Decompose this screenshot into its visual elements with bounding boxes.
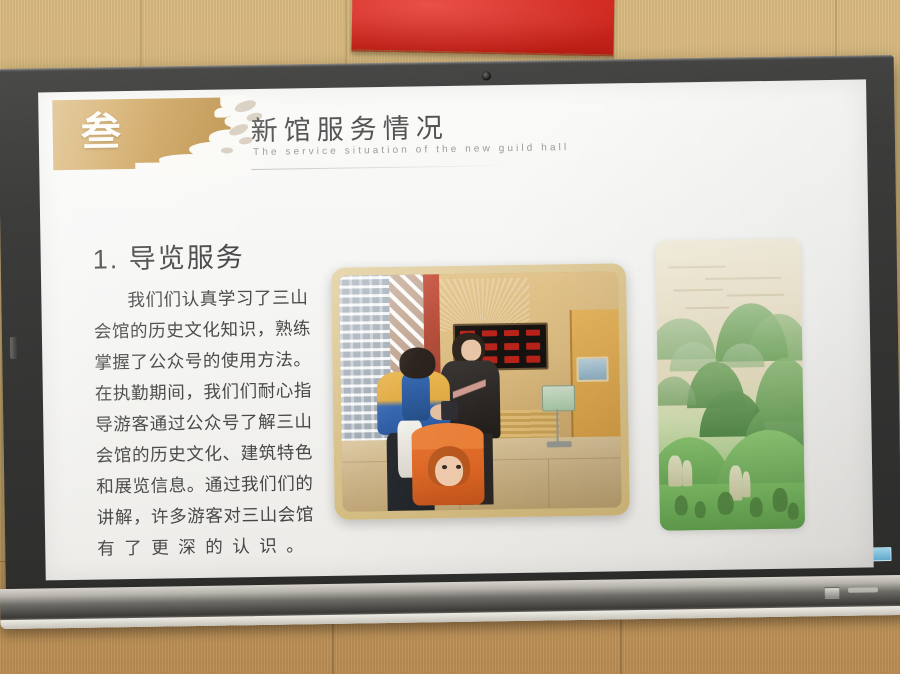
photo-volunteer-head xyxy=(399,347,436,378)
photo-info-tablet xyxy=(576,356,608,382)
slide-title: 新馆服务情况 xyxy=(250,106,449,148)
cloud-line xyxy=(726,294,784,297)
cloud-line xyxy=(705,276,780,279)
body-line: 讲解，许多游客对三山会馆 xyxy=(97,499,345,534)
interactive-whiteboard[interactable]: 叁 xyxy=(0,55,900,619)
rock-formation xyxy=(742,471,751,497)
body-line: 导游客通过公众号了解三山 xyxy=(95,406,343,441)
photo-baby-eye xyxy=(456,465,461,469)
section-heading: 1. 导览服务 xyxy=(92,235,245,276)
landscape-painting xyxy=(656,238,806,530)
display-bezel: 叁 xyxy=(0,55,900,603)
body-line: 在执勤期间，我们们耐心指 xyxy=(95,375,343,410)
rock-formation xyxy=(682,461,693,487)
floor-line xyxy=(548,459,550,509)
photo-stroller-hood xyxy=(411,422,484,449)
body-text-column: 我们们认真学习了三山 会馆的历史文化知识，熟练 掌握了公众号的使用方法。 在执勤… xyxy=(93,282,345,565)
tree xyxy=(717,492,733,515)
ink-splatter xyxy=(135,161,265,177)
camera-sensor-icon xyxy=(482,71,491,80)
title-underline xyxy=(251,165,513,170)
tray-slot xyxy=(848,587,878,592)
led-cell xyxy=(526,342,541,349)
body-line: 有了更深的认识。 xyxy=(97,530,345,565)
usb-port-icon[interactable] xyxy=(824,587,840,599)
tree xyxy=(674,495,687,515)
mountain-range xyxy=(656,376,696,406)
tree xyxy=(787,502,799,520)
led-cell xyxy=(482,330,497,337)
body-line: 和展览信息。通过我们们的 xyxy=(96,468,344,503)
photo-visitor-face xyxy=(461,340,481,362)
cloud-line xyxy=(686,306,730,309)
body-line: 掌握了公众号的使用方法。 xyxy=(94,344,342,379)
cloud-line xyxy=(668,266,726,269)
rock-formation xyxy=(668,455,683,487)
led-cell xyxy=(504,356,519,363)
photo-standing-sign xyxy=(542,385,575,411)
room-scene: 叁 xyxy=(0,0,900,674)
projected-slide[interactable]: 叁 xyxy=(38,79,874,580)
tree xyxy=(749,497,762,517)
photo-sign-base xyxy=(547,441,572,447)
tree xyxy=(773,488,788,511)
photo-smartphone-icon xyxy=(441,401,458,420)
led-cell xyxy=(504,330,519,337)
slide-header: 叁 xyxy=(38,85,867,190)
led-cell xyxy=(504,343,519,350)
museum-photo xyxy=(339,271,622,511)
body-line: 会馆的历史文化知识，熟练 xyxy=(94,313,342,348)
photo-volunteer-vest xyxy=(402,373,431,421)
body-line: 我们们认真学习了三山 xyxy=(93,282,341,317)
led-cell xyxy=(526,355,541,362)
led-cell xyxy=(525,329,540,336)
cloud-line xyxy=(674,289,723,292)
section-number: 叁 xyxy=(80,110,121,155)
side-button[interactable] xyxy=(10,337,17,359)
tree xyxy=(694,501,706,519)
red-banner-board xyxy=(351,0,614,57)
photo-frame xyxy=(331,263,630,520)
photo-baby-eye xyxy=(442,465,447,469)
body-line: 会馆的历史文化、建筑特色 xyxy=(96,437,344,472)
